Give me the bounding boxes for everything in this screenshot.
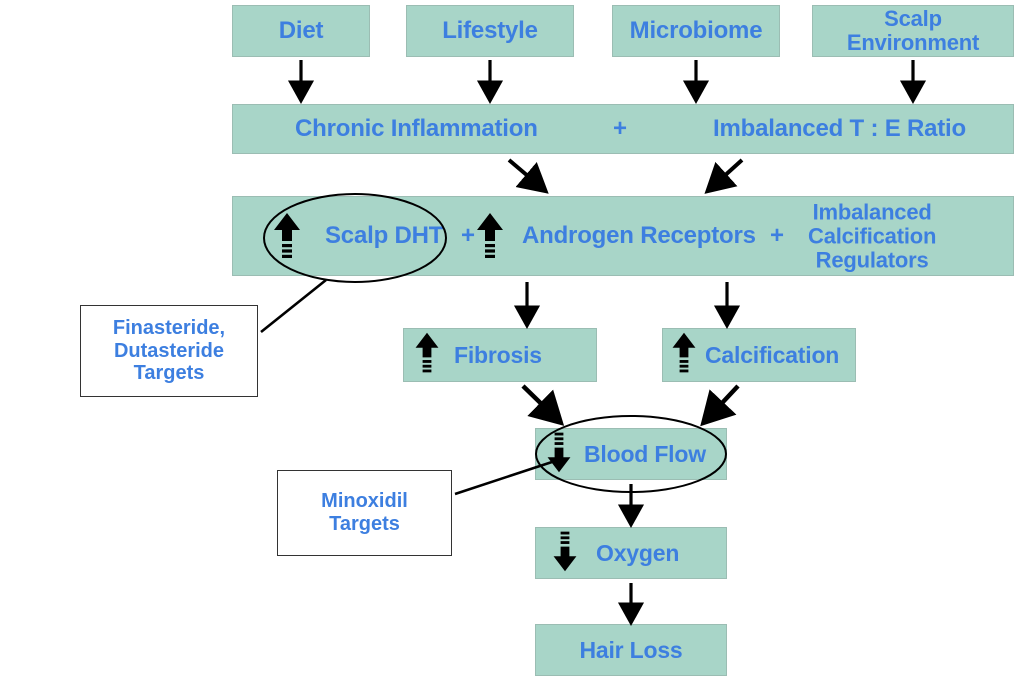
scalp-dht-label: Scalp DHT <box>325 223 443 249</box>
dht-plus1-label: + <box>461 223 475 249</box>
row2-plus-label: + <box>613 116 627 142</box>
imbalanced-calcification-regulators-label: Imbalanced Calcification Regulators <box>808 200 1008 271</box>
node-diet[interactable]: Diet <box>232 5 370 57</box>
androgen-receptors-label: Androgen Receptors <box>522 223 756 249</box>
arrow-fibrosis-to-blood-flow <box>523 386 557 419</box>
node-scalp-environment-label: Scalp Environment <box>847 7 979 54</box>
callout-minoxidil-targets[interactable]: Minoxidil Targets <box>277 470 452 556</box>
node-hair-loss[interactable]: Hair Loss <box>535 624 727 676</box>
down-arrow-striped-icon <box>546 430 572 479</box>
chronic-inflammation-label: Chronic Inflammation <box>295 116 538 142</box>
node-lifestyle[interactable]: Lifestyle <box>406 5 574 57</box>
calcification-label: Calcification <box>705 343 839 368</box>
node-chronic-inflammation-ratio[interactable]: Chronic Inflammation + Imbalanced T : E … <box>232 104 1014 154</box>
node-microbiome-label: Microbiome <box>630 18 763 44</box>
hair-loss-label: Hair Loss <box>579 638 682 663</box>
arrow-calcification-to-blood-flow <box>707 386 738 419</box>
up-arrow-striped-icon <box>273 211 301 261</box>
callout-minoxidil-label: Minoxidil Targets <box>321 490 408 535</box>
node-blood-flow[interactable]: Blood Flow <box>535 428 727 480</box>
callout-finasteride-label: Finasteride, Dutasteride Targets <box>113 317 225 385</box>
node-diet-label: Diet <box>279 18 324 44</box>
node-scalp-environment[interactable]: Scalp Environment <box>812 5 1014 57</box>
node-oxygen[interactable]: Oxygen <box>535 527 727 579</box>
callout-finasteride-dutasteride-targets[interactable]: Finasteride, Dutasteride Targets <box>80 305 258 397</box>
up-arrow-striped-icon <box>414 331 440 380</box>
imbalanced-te-ratio-label: Imbalanced T : E Ratio <box>713 116 966 142</box>
node-fibrosis[interactable]: Fibrosis <box>403 328 597 382</box>
diagram-canvas: Diet Lifestyle Microbiome Scalp Environm… <box>0 0 1024 683</box>
up-arrow-striped-icon <box>476 211 504 261</box>
node-microbiome[interactable]: Microbiome <box>612 5 780 57</box>
arrow-inflammation-to-dht <box>509 160 542 188</box>
node-calcification[interactable]: Calcification <box>662 328 856 382</box>
node-lifestyle-label: Lifestyle <box>442 18 538 44</box>
blood-flow-label: Blood Flow <box>584 442 706 467</box>
node-dht-bar[interactable]: Scalp DHT + Androgen Receptors + Imbalan… <box>232 196 1014 276</box>
dht-plus2-label: + <box>770 223 784 249</box>
leader-line-finasteride <box>261 280 326 332</box>
arrow-ratio-to-dht <box>711 160 742 188</box>
fibrosis-label: Fibrosis <box>454 343 542 368</box>
oxygen-label: Oxygen <box>596 541 679 566</box>
up-arrow-striped-icon <box>671 331 697 380</box>
down-arrow-striped-icon <box>552 529 578 578</box>
